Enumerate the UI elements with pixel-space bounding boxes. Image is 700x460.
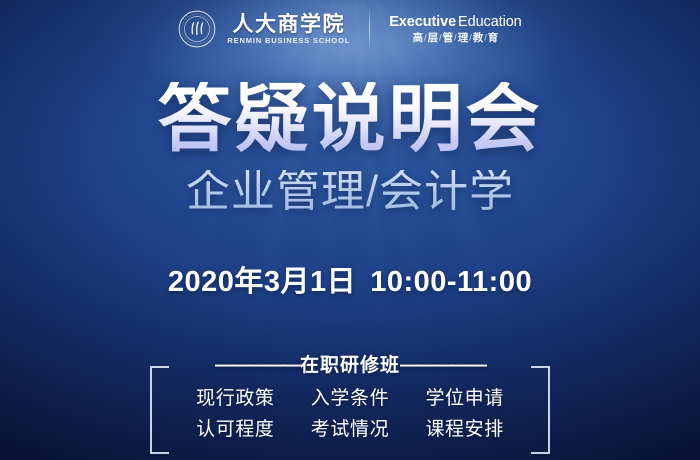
event-date: 2020年3月1日 xyxy=(168,266,356,298)
program-cn-char-5: 育 xyxy=(488,33,499,44)
bracket-right-icon xyxy=(531,366,550,454)
program-cn-char-4: 教 xyxy=(473,33,484,44)
program-name-en: ExecutiveEducation xyxy=(389,15,521,30)
school-name-cn: 人大商学院 xyxy=(233,14,346,36)
hero-subtitle: 企业管理/会计学 xyxy=(0,170,700,214)
topic-item: 课程安排 xyxy=(425,417,503,442)
bracket-left-icon xyxy=(150,366,169,454)
program-name-cn: 高 / 层 / 管 / 理 / 教 / 育 xyxy=(413,33,499,44)
event-time: 10:00-11:00 xyxy=(370,266,532,298)
program-en-bold: Executive xyxy=(389,14,456,30)
school-name-block: 人大商学院 RENMIN BUSINESS SCHOOL xyxy=(227,14,350,45)
ribbon-dash-right: ————— xyxy=(400,355,485,376)
ribbon-dash-left: ————— xyxy=(215,355,300,376)
program-cn-char-0: 高 xyxy=(413,33,424,44)
topic-item: 现行政策 xyxy=(196,386,274,411)
vertical-divider-icon xyxy=(369,11,370,47)
logo-lockup: 人大商学院 RENMIN BUSINESS SCHOOL ExecutiveEd… xyxy=(178,10,521,48)
bottom-panel: —————在职研修班————— 现行政策 入学条件 学位申请 认可程度 考试情况… xyxy=(150,356,550,458)
topic-item: 认可程度 xyxy=(196,417,274,442)
topics-grid: 现行政策 入学条件 学位申请 认可程度 考试情况 课程安排 xyxy=(174,386,526,442)
program-cn-sep-4: / xyxy=(484,33,487,42)
program-en-regular: Education xyxy=(458,14,522,30)
school-name-en: RENMIN BUSINESS SCHOOL xyxy=(227,37,350,44)
event-poster: 人大商学院 RENMIN BUSINESS SCHOOL ExecutiveEd… xyxy=(0,0,700,460)
program-cn-sep-0: / xyxy=(424,33,427,42)
program-cn-sep-2: / xyxy=(454,33,457,42)
program-cn-char-3: 理 xyxy=(458,33,469,44)
topic-item: 考试情况 xyxy=(311,417,389,442)
event-datetime: 2020年3月1日10:00-11:00 xyxy=(0,258,700,300)
poster-header: 人大商学院 RENMIN BUSINESS SCHOOL ExecutiveEd… xyxy=(0,0,700,58)
ribbon-label: 在职研修班 xyxy=(300,355,400,376)
program-cn-sep-1: / xyxy=(439,33,442,42)
program-ribbon: —————在职研修班————— xyxy=(150,356,550,375)
hero-title: 答疑说明会 xyxy=(158,82,543,156)
renmin-university-seal-icon xyxy=(178,10,216,48)
program-cn-char-1: 层 xyxy=(428,33,439,44)
program-cn-char-2: 管 xyxy=(443,33,454,44)
topic-item: 学位申请 xyxy=(425,386,503,411)
program-block: ExecutiveEducation 高 / 层 / 管 / 理 / 教 / 育 xyxy=(389,15,521,43)
topic-item: 入学条件 xyxy=(311,386,389,411)
hero-headline: 答疑说明会 企业管理/会计学 xyxy=(0,82,700,214)
program-cn-sep-3: / xyxy=(469,33,472,42)
topics-bracket-box: 现行政策 入学条件 学位申请 认可程度 考试情况 课程安排 xyxy=(150,366,550,458)
